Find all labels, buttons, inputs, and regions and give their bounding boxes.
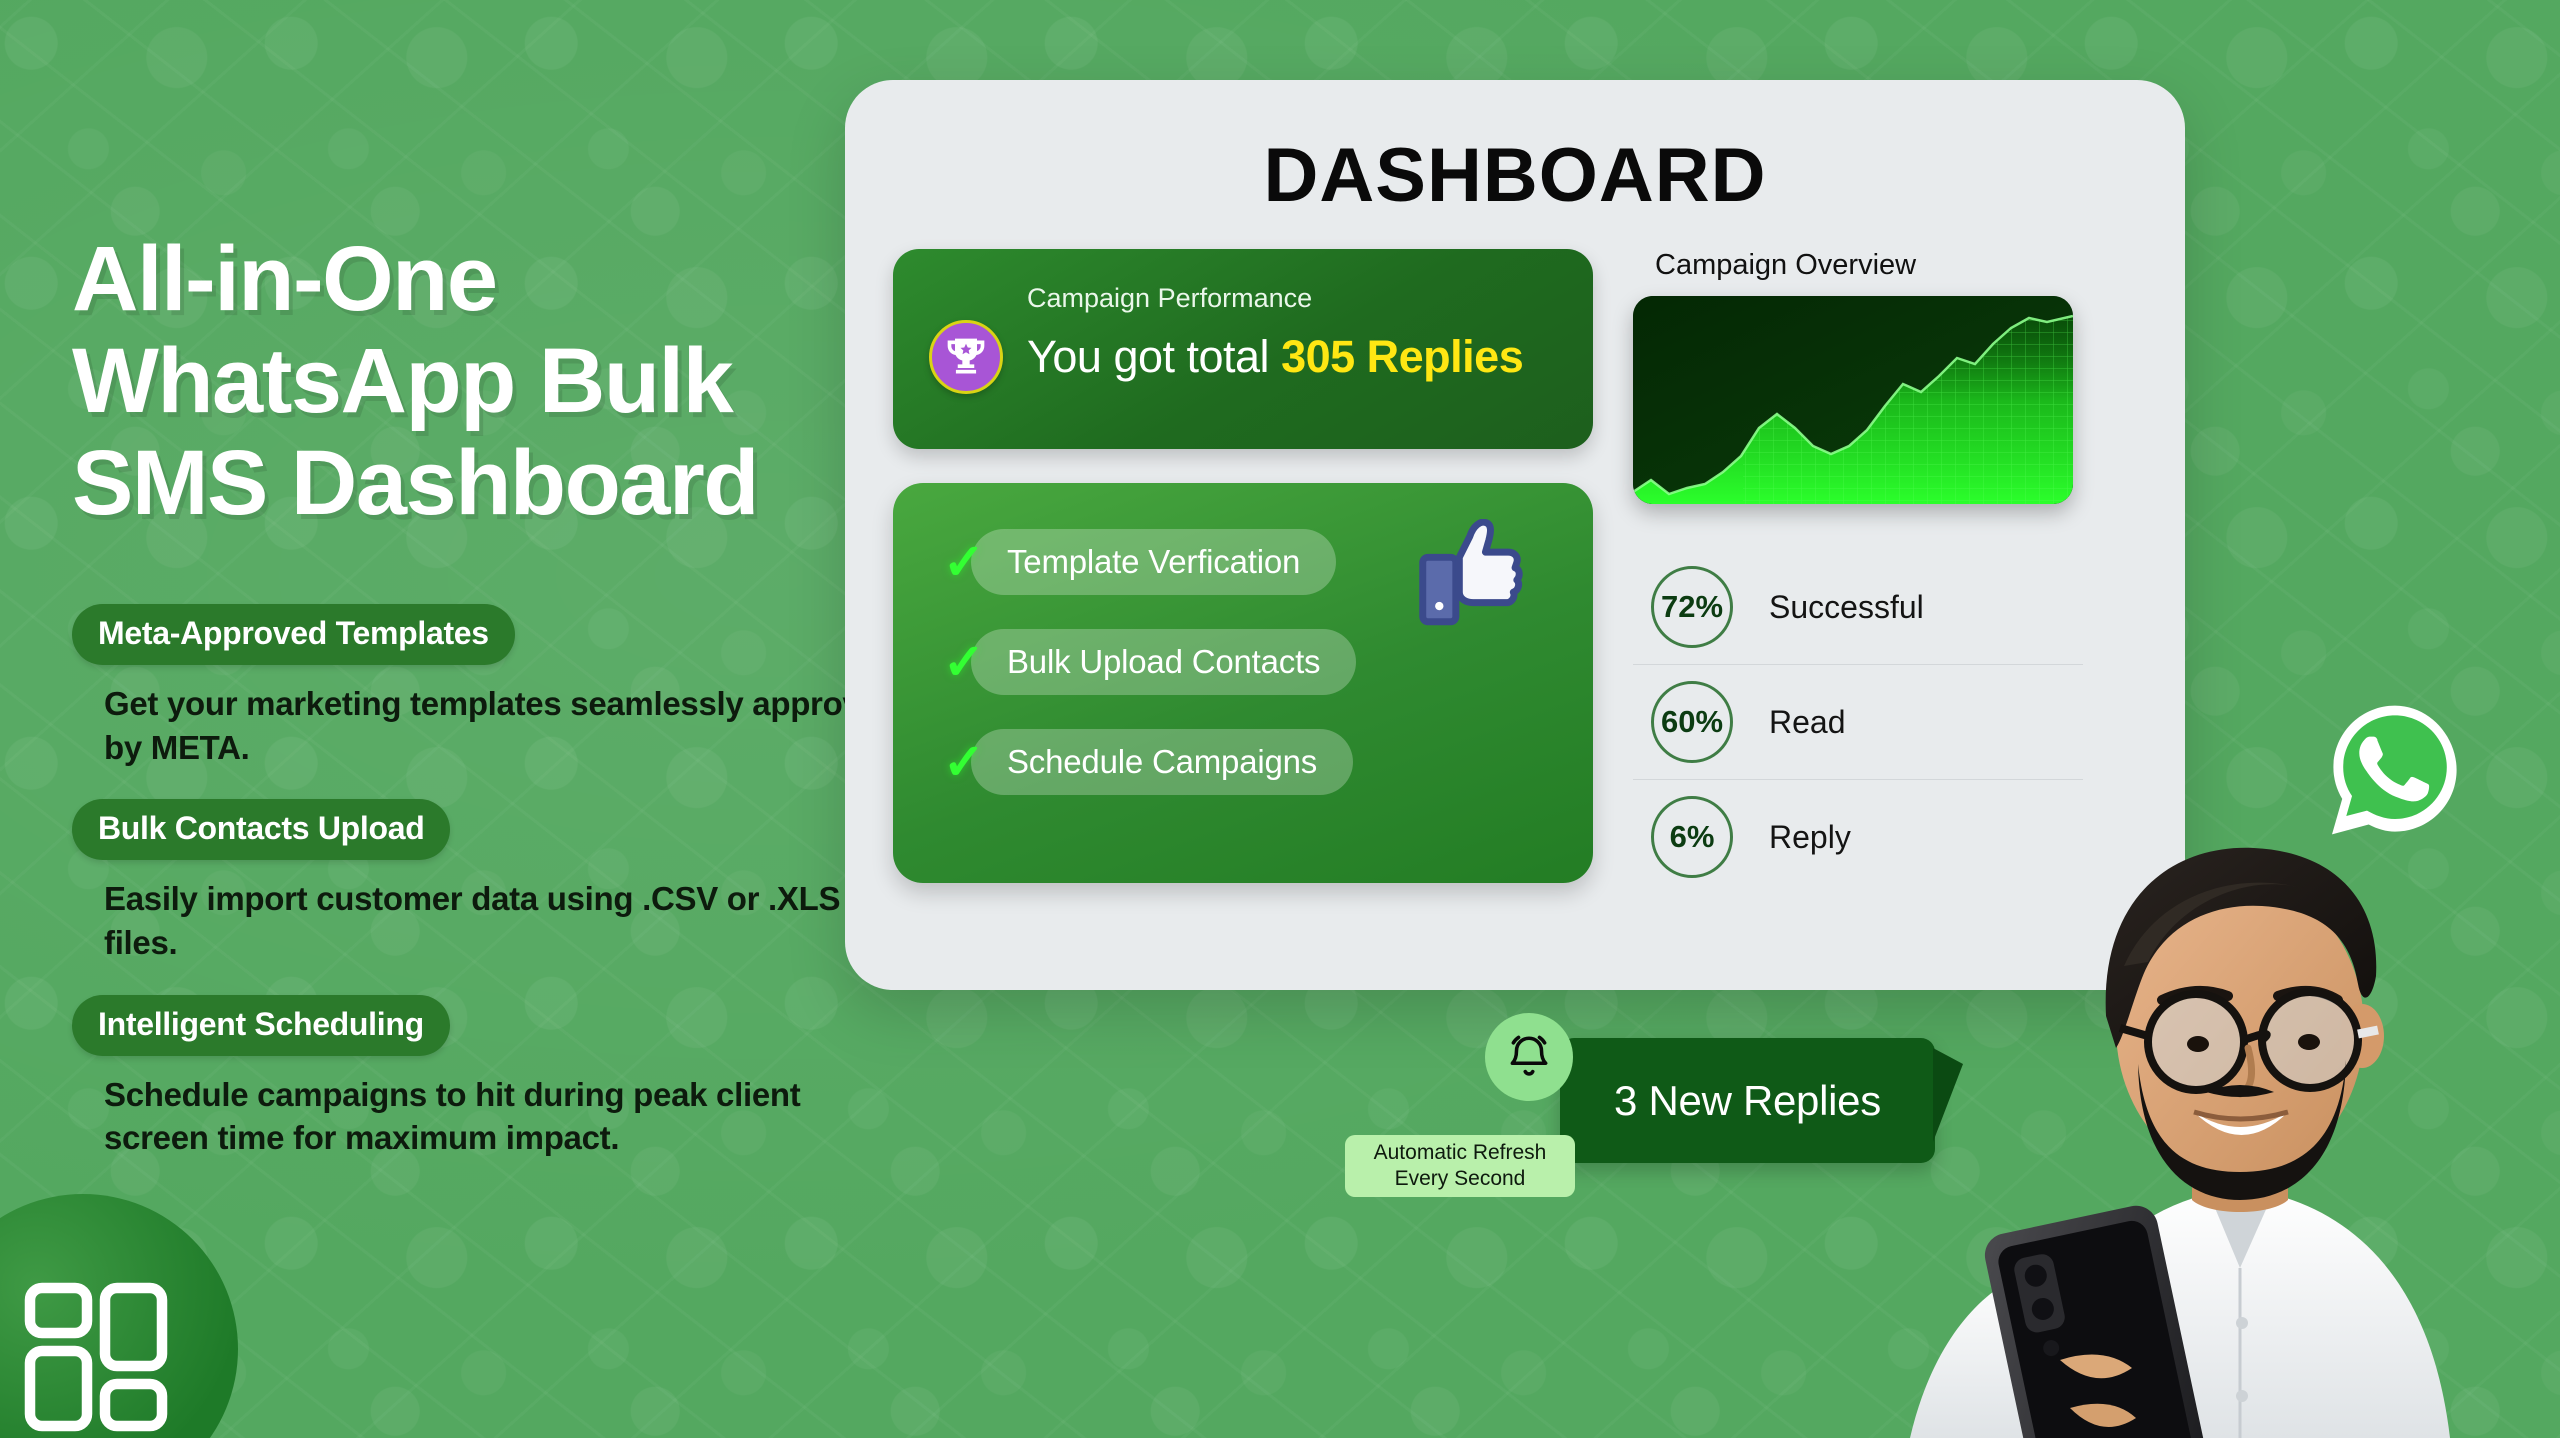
auto-refresh-line-1: Automatic Refresh [1374, 1140, 1547, 1166]
dashboard-grid-icon [24, 1282, 174, 1432]
feature-pill-intelligent-scheduling: Intelligent Scheduling [72, 995, 450, 1056]
feature-pill-bulk-contacts-upload: Bulk Contacts Upload [72, 799, 450, 860]
new-replies-banner: 3 New Replies [1560, 1038, 1935, 1163]
campaign-performance-banner: Campaign Performance You got total 305 R… [893, 249, 1593, 449]
performance-replies-count: 305 Replies [1281, 331, 1523, 382]
stat-row-successful: 72% Successful [1633, 550, 2083, 665]
stat-progress-ring: 72% [1651, 566, 1733, 648]
feature-description: Get your marketing templates seamlessly … [104, 682, 904, 769]
dashboard-title: DASHBOARD [845, 132, 2185, 219]
page-title: All-in-One WhatsApp Bulk SMS Dashboard [72, 228, 972, 534]
stat-value: 6% [1670, 819, 1715, 855]
task-row[interactable]: ✓ Bulk Upload Contacts [893, 629, 1593, 705]
task-label[interactable]: Template Verfication [971, 529, 1336, 595]
task-label[interactable]: Schedule Campaigns [971, 729, 1353, 795]
stat-label: Reply [1769, 819, 1851, 856]
feature-item: Intelligent Scheduling Schedule campaign… [72, 995, 972, 1160]
task-checklist-panel: ✓ Template Verfication ✓ Bulk Upload Con… [893, 483, 1593, 883]
page-title-line-1: All-in-One [72, 228, 972, 330]
campaign-performance-row: You got total 305 Replies [929, 320, 1563, 394]
auto-refresh-badge: Automatic Refresh Every Second [1345, 1135, 1575, 1197]
bell-icon [1485, 1013, 1573, 1101]
page-title-line-2: WhatsApp Bulk [72, 330, 972, 432]
dashboard-left-column: Campaign Performance You got total 305 R… [893, 249, 1593, 894]
campaign-overview-chart [1633, 296, 2073, 504]
auto-refresh-line-2: Every Second [1395, 1166, 1526, 1192]
feature-description: Easily import customer data using .CSV o… [104, 877, 904, 964]
task-label[interactable]: Bulk Upload Contacts [971, 629, 1356, 695]
stat-label: Successful [1769, 589, 1924, 626]
thumbs-up-icon [1419, 519, 1531, 632]
campaign-performance-sentence: You got total 305 Replies [1027, 331, 1523, 383]
campaign-overview-label: Campaign Overview [1655, 249, 2137, 282]
check-icon: ✓ [943, 633, 985, 691]
performance-sentence-prefix: You got total [1027, 331, 1281, 382]
feature-item: Bulk Contacts Upload Easily import custo… [72, 799, 972, 964]
feature-item: Meta-Approved Templates Get your marketi… [72, 604, 972, 769]
stat-label: Read [1769, 704, 1846, 741]
task-row[interactable]: ✓ Schedule Campaigns [893, 729, 1593, 805]
check-icon: ✓ [943, 733, 985, 791]
stat-progress-ring: 6% [1651, 796, 1733, 878]
feature-pill-meta-approved-templates: Meta-Approved Templates [72, 604, 515, 665]
check-icon: ✓ [943, 533, 985, 591]
page-title-line-3: SMS Dashboard [72, 432, 972, 534]
campaign-performance-label: Campaign Performance [1027, 283, 1563, 314]
stat-value: 72% [1661, 589, 1723, 625]
stat-value: 60% [1661, 704, 1723, 740]
feature-description: Schedule campaigns to hit during peak cl… [104, 1073, 904, 1160]
stat-progress-ring: 60% [1651, 681, 1733, 763]
person-photo [1910, 748, 2560, 1438]
trophy-icon [929, 320, 1003, 394]
new-replies-text: 3 New Replies [1614, 1077, 1881, 1125]
feature-list: Meta-Approved Templates Get your marketi… [72, 604, 972, 1159]
left-content-column: All-in-One WhatsApp Bulk SMS Dashboard M… [72, 228, 972, 1190]
